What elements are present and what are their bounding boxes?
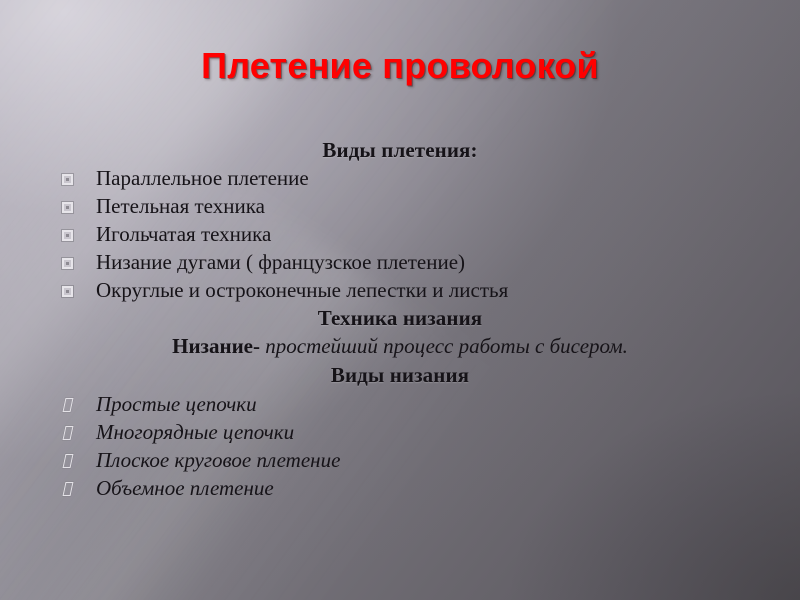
square-bullet-icon	[62, 202, 73, 213]
list-item: Петельная техника	[46, 192, 754, 220]
square-bullet-icon	[62, 258, 73, 269]
heading-tehnika-nizaniya: Техника низания	[46, 304, 754, 332]
hollow-box-bullet-icon	[63, 398, 74, 412]
list-item-label: Петельная техника	[96, 194, 265, 218]
list-item-label: Многорядные цепочки	[96, 420, 294, 444]
hollow-box-bullet-icon	[63, 426, 74, 440]
definition-term: Низание-	[172, 334, 260, 358]
square-bullet-icon	[62, 286, 73, 297]
list-item: Объемное плетение	[46, 474, 754, 502]
slide-title-placeholder: Плетение проволокой	[40, 44, 760, 88]
list-item-label: Простые цепочки	[96, 392, 257, 416]
list-item: Параллельное плетение	[46, 164, 754, 192]
list-item: Округлые и остроконечные лепестки и лист…	[46, 276, 754, 304]
list-item-label: Округлые и остроконечные лепестки и лист…	[96, 278, 508, 302]
square-bullet-icon	[62, 174, 73, 185]
heading-vidy-nizaniya: Виды низания	[46, 361, 754, 389]
list-item: Игольчатая техника	[46, 220, 754, 248]
definition-text: простейший процесс работы с бисером.	[265, 334, 628, 358]
heading-vidy-pleteniya: Виды плетения:	[46, 136, 754, 164]
list-item: Плоское круговое плетение	[46, 446, 754, 474]
list-item-label: Игольчатая техника	[96, 222, 271, 246]
slide-body-placeholder: Виды плетения: Параллельное плетение Пет…	[46, 136, 754, 502]
list-vidy-nizaniya: Простые цепочки Многорядные цепочки Плос…	[46, 390, 754, 502]
presentation-slide: Плетение проволокой Виды плетения: Парал…	[0, 0, 800, 600]
list-item-label: Низание дугами ( французское плетение)	[96, 250, 465, 274]
list-item: Низание дугами ( французское плетение)	[46, 248, 754, 276]
slide-title: Плетение проволокой	[201, 44, 599, 88]
square-bullet-icon	[62, 230, 73, 241]
list-item: Многорядные цепочки	[46, 418, 754, 446]
list-item-label: Параллельное плетение	[96, 166, 309, 190]
definition-nizanie: Низание- простейший процесс работы с бис…	[46, 332, 754, 361]
list-item-label: Объемное плетение	[96, 476, 274, 500]
list-item: Простые цепочки	[46, 390, 754, 418]
list-item-label: Плоское круговое плетение	[96, 448, 340, 472]
hollow-box-bullet-icon	[63, 454, 74, 468]
hollow-box-bullet-icon	[63, 482, 74, 496]
list-vidy-pleteniya: Параллельное плетение Петельная техника …	[46, 164, 754, 304]
